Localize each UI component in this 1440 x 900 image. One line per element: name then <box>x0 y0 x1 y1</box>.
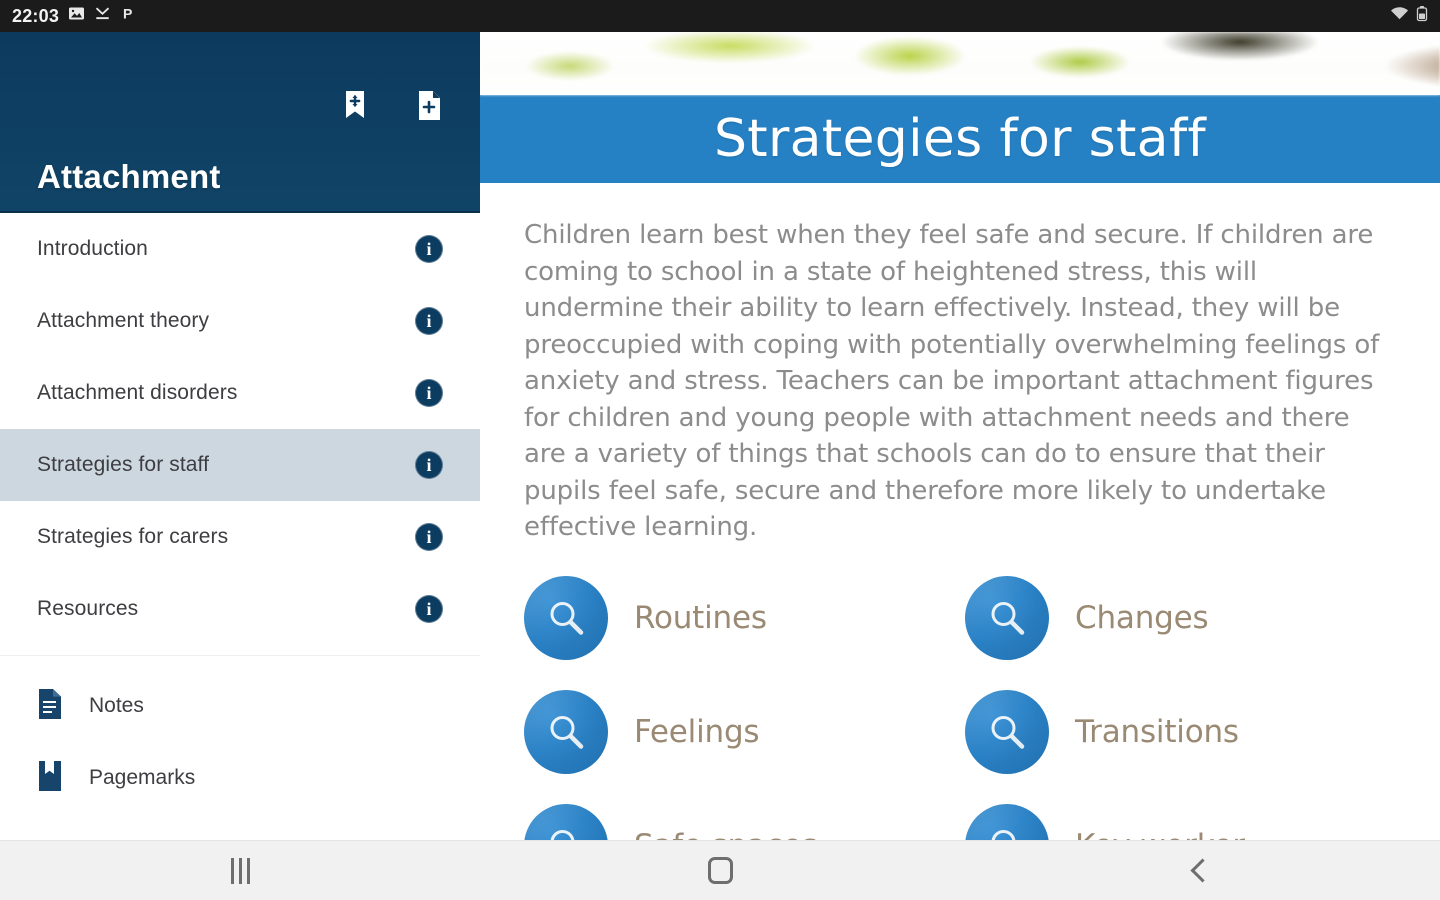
info-icon[interactable]: i <box>415 235 443 263</box>
recents-button[interactable] <box>180 841 300 900</box>
sidebar-item-label: Attachment disorders <box>37 381 415 405</box>
sidebar-item-label: Pagemarks <box>89 766 195 790</box>
sidebar-nav-list: Introduction i Attachment theory i Attac… <box>0 213 480 645</box>
topic-link-routines[interactable]: Routines <box>524 576 955 660</box>
hero-photo <box>480 32 1440 95</box>
sidebar-item-strategies-for-carers[interactable]: Strategies for carers i <box>0 501 480 573</box>
recents-icon <box>231 858 250 884</box>
app-root: 22:03 P <box>0 0 1440 900</box>
status-bar-left: 22:03 P <box>12 5 137 27</box>
topic-link-label: Routines <box>634 600 767 636</box>
topic-link-label: Changes <box>1075 600 1208 636</box>
status-clock: 22:03 <box>12 6 59 27</box>
topic-link-changes[interactable]: Changes <box>965 576 1396 660</box>
back-chevron-icon <box>1190 858 1214 882</box>
status-bar-right <box>1390 5 1428 27</box>
info-icon[interactable]: i <box>415 523 443 551</box>
sidebar-item-introduction[interactable]: Introduction i <box>0 213 480 285</box>
parking-p-icon: P <box>120 5 137 27</box>
magnifier-icon <box>524 804 608 841</box>
sidebar-item-attachment-theory[interactable]: Attachment theory i <box>0 285 480 357</box>
sidebar-item-attachment-disorders[interactable]: Attachment disorders i <box>0 357 480 429</box>
sidebar: Attachment Introduction i Attachment the… <box>0 32 480 840</box>
sidebar-header: Attachment <box>0 32 480 213</box>
download-tray-icon <box>94 5 111 27</box>
note-document-icon <box>37 688 63 725</box>
intro-paragraph: Children learn best when they feel safe … <box>524 217 1396 546</box>
sidebar-item-label: Notes <box>89 694 144 718</box>
topic-link-label: Feelings <box>634 714 759 750</box>
magnifier-icon <box>965 804 1049 841</box>
sidebar-item-pagemarks[interactable]: Pagemarks <box>0 742 480 814</box>
magnifier-icon <box>524 576 608 660</box>
topic-link-grid: Routines Changes <box>524 576 1396 841</box>
sidebar-item-label: Resources <box>37 597 415 621</box>
home-icon <box>708 857 733 884</box>
info-icon[interactable]: i <box>415 595 443 623</box>
topic-link-feelings[interactable]: Feelings <box>524 690 955 774</box>
battery-icon <box>1416 5 1428 27</box>
topic-link-label: Safe spaces <box>634 828 817 841</box>
sidebar-item-resources[interactable]: Resources i <box>0 573 480 645</box>
sidebar-tools-list: Notes Pagemarks <box>0 656 480 814</box>
wifi-icon <box>1390 5 1409 27</box>
magnifier-icon <box>965 576 1049 660</box>
image-icon <box>68 5 85 27</box>
main-content: Strategies for staff Children learn best… <box>480 32 1440 840</box>
hero-title-band: Strategies for staff <box>480 95 1440 183</box>
topic-link-safe-spaces[interactable]: Safe spaces <box>524 804 955 841</box>
home-button[interactable] <box>660 841 780 900</box>
sidebar-item-strategies-for-staff[interactable]: Strategies for staff i <box>0 429 480 501</box>
sidebar-toolbar <box>338 88 446 122</box>
sidebar-item-label: Strategies for carers <box>37 525 415 549</box>
add-pagemark-icon[interactable] <box>338 88 372 122</box>
magnifier-icon <box>965 690 1049 774</box>
app-body: Attachment Introduction i Attachment the… <box>0 32 1440 840</box>
topic-link-label: Transitions <box>1075 714 1239 750</box>
magnifier-icon <box>524 690 608 774</box>
content-scroll-area[interactable]: Children learn best when they feel safe … <box>480 183 1440 840</box>
sidebar-item-label: Introduction <box>37 237 415 261</box>
add-note-icon[interactable] <box>412 88 446 122</box>
svg-text:P: P <box>123 6 132 22</box>
topic-link-label: Key worker <box>1075 828 1245 841</box>
android-status-bar: 22:03 P <box>0 0 1440 32</box>
sidebar-item-label: Attachment theory <box>37 309 415 333</box>
sidebar-item-label: Strategies for staff <box>37 453 415 477</box>
info-icon[interactable]: i <box>415 379 443 407</box>
bookmark-icon <box>37 760 63 797</box>
topic-link-transitions[interactable]: Transitions <box>965 690 1396 774</box>
topic-link-key-worker[interactable]: Key worker <box>965 804 1396 841</box>
info-icon[interactable]: i <box>415 451 443 479</box>
page-title: Strategies for staff <box>714 113 1206 165</box>
info-icon[interactable]: i <box>415 307 443 335</box>
back-button[interactable] <box>1140 841 1260 900</box>
sidebar-item-notes[interactable]: Notes <box>0 670 480 742</box>
android-nav-bar <box>0 840 1440 900</box>
sidebar-title: Attachment <box>0 160 480 193</box>
